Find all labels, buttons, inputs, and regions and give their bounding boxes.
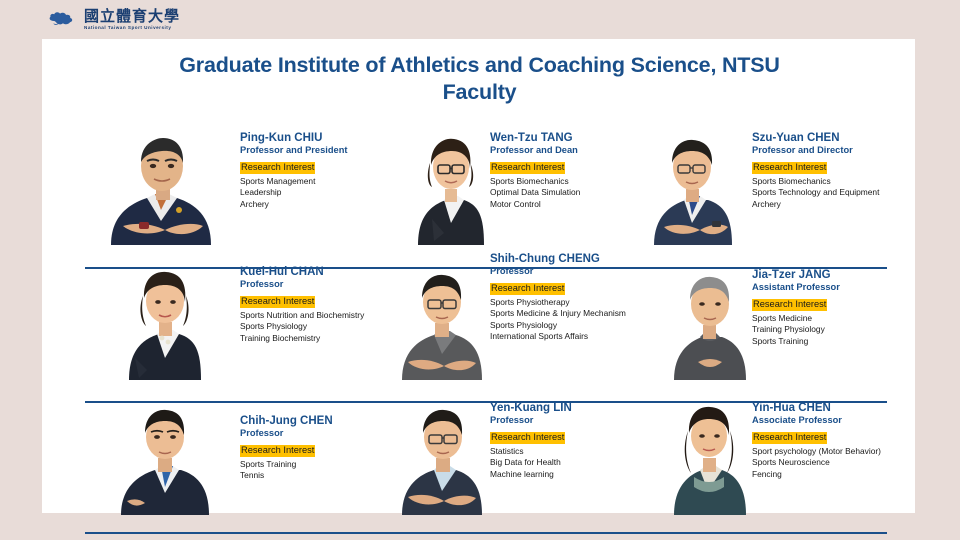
research-interest-item: Archery [752, 199, 879, 211]
research-interest-list: Sports Physiotherapy Sports Medicine & I… [490, 297, 626, 343]
faculty-name: Kuei-Hui CHAN [240, 265, 364, 279]
research-interest-list: Statistics Big Data for Health Machine l… [490, 446, 572, 481]
faculty-info: Yen-Kuang LIN Professor Research Interes… [490, 401, 572, 480]
university-logo: 國立體育大學 National Taiwan Sport University [48, 4, 180, 36]
research-interest-item: Sports Biomechanics [490, 176, 580, 188]
faculty-card-yen-kuang-lin[interactable]: Yen-Kuang LIN Professor Research Interes… [362, 379, 637, 519]
page-title-line1: Graduate Institute of Athletics and Coac… [102, 52, 857, 79]
research-interest-item: Motor Control [490, 199, 580, 211]
faculty-name: Jia-Tzer JANG [752, 268, 840, 282]
faculty-card-yin-hua-chen[interactable]: Yin-Hua CHEN Associate Professor Researc… [630, 379, 905, 519]
portrait-ping-kun-chiu [99, 118, 221, 245]
page-title: Graduate Institute of Athletics and Coac… [102, 52, 857, 106]
faculty-card-chih-jung-chen[interactable]: Chih-Jung CHEN Professor Research Intere… [85, 379, 360, 519]
research-interest-item: Optimal Data Simulation [490, 187, 580, 199]
faculty-name: Chih-Jung CHEN [240, 414, 333, 428]
research-interest-item: International Sports Affairs [490, 331, 626, 343]
faculty-row-3: Chih-Jung CHEN Professor Research Intere… [42, 379, 915, 519]
portrait-jia-tzer-jang [664, 262, 754, 380]
faculty-card-jia-tzer-jang[interactable]: Jia-Tzer JANG Assistant Professor Resear… [630, 244, 905, 384]
portrait-wen-tzu-tang [410, 123, 488, 245]
portrait-yen-kuang-lin [392, 393, 492, 515]
faculty-card-shih-chung-cheng[interactable]: Shih-Chung CHENG Professor Research Inte… [362, 244, 637, 384]
logo-chinese-name: 國立體育大學 [84, 9, 180, 24]
faculty-row-2: Kuei-Hui CHAN Professor Research Interes… [42, 244, 915, 384]
portrait-szu-yuan-chen [646, 123, 738, 245]
research-interest-item: Sports Management [240, 176, 347, 188]
research-interest-item: Sports Training [752, 336, 840, 348]
research-interest-badge: Research Interest [490, 283, 565, 295]
faculty-position: Professor [490, 266, 626, 278]
research-interest-badge: Research Interest [240, 445, 315, 457]
content-card: Graduate Institute of Athletics and Coac… [42, 39, 915, 513]
faculty-position: Professor and President [240, 145, 347, 157]
research-interest-item: Sports Biomechanics [752, 176, 879, 188]
research-interest-item: Sports Nutrition and Biochemistry [240, 310, 364, 322]
faculty-card-wen-tzu-tang[interactable]: Wen-Tzu TANG Professor and Dean Research… [362, 109, 637, 249]
faculty-card-ping-kun-chiu[interactable]: Ping-Kun CHIU Professor and President Re… [85, 109, 360, 249]
slide-canvas: 國立體育大學 National Taiwan Sport University … [0, 0, 960, 540]
portrait-kuei-hui-chan [121, 258, 209, 380]
row-separator [85, 532, 887, 534]
research-interest-list: Sports Medicine Training Physiology Spor… [752, 313, 840, 348]
faculty-position: Associate Professor [752, 415, 881, 427]
faculty-info: Jia-Tzer JANG Assistant Professor Resear… [752, 268, 840, 347]
faculty-position: Assistant Professor [752, 282, 840, 294]
research-interest-item: Archery [240, 199, 347, 211]
logo-wordmark: 國立體育大學 National Taiwan Sport University [84, 9, 180, 31]
research-interest-item: Sports Medicine & Injury Mechanism [490, 308, 626, 320]
portrait-chih-jung-chen [105, 393, 223, 515]
faculty-info: Chih-Jung CHEN Professor Research Intere… [240, 414, 333, 482]
research-interest-badge: Research Interest [752, 299, 827, 311]
faculty-info: Shih-Chung CHENG Professor Research Inte… [490, 252, 626, 343]
research-interest-list: Sport psychology (Motor Behavior) Sports… [752, 446, 881, 481]
research-interest-item: Sports Neuroscience [752, 457, 881, 469]
research-interest-item: Training Physiology [752, 324, 840, 336]
faculty-position: Professor and Dean [490, 145, 580, 157]
faculty-row-1: Ping-Kun CHIU Professor and President Re… [42, 109, 915, 249]
research-interest-list: Sports Nutrition and Biochemistry Sports… [240, 310, 364, 345]
research-interest-item: Machine learning [490, 469, 572, 481]
faculty-name: Yen-Kuang LIN [490, 401, 572, 415]
faculty-info: Ping-Kun CHIU Professor and President Re… [240, 131, 347, 210]
research-interest-item: Big Data for Health [490, 457, 572, 469]
faculty-position: Professor [240, 279, 364, 291]
portrait-shih-chung-cheng [392, 258, 492, 380]
research-interest-item: Leadership [240, 187, 347, 199]
ntsu-cloud-logo-icon [48, 10, 78, 30]
faculty-name: Ping-Kun CHIU [240, 131, 347, 145]
research-interest-badge: Research Interest [752, 162, 827, 174]
faculty-info: Yin-Hua CHEN Associate Professor Researc… [752, 401, 881, 480]
logo-english-name: National Taiwan Sport University [84, 26, 180, 31]
research-interest-list: Sports Biomechanics Optimal Data Simulat… [490, 176, 580, 211]
faculty-name: Yin-Hua CHEN [752, 401, 881, 415]
faculty-position: Professor and Director [752, 145, 879, 157]
research-interest-list: Sports Training Tennis [240, 459, 333, 482]
research-interest-item: Tennis [240, 470, 333, 482]
research-interest-item: Sports Physiotherapy [490, 297, 626, 309]
research-interest-item: Sports Training [240, 459, 333, 471]
research-interest-badge: Research Interest [490, 432, 565, 444]
page-title-line2: Faculty [102, 79, 857, 106]
faculty-info: Kuei-Hui CHAN Professor Research Interes… [240, 265, 364, 344]
research-interest-item: Sports Physiology [490, 320, 626, 332]
research-interest-item: Sport psychology (Motor Behavior) [752, 446, 881, 458]
research-interest-item: Sports Medicine [752, 313, 840, 325]
faculty-card-kuei-hui-chan[interactable]: Kuei-Hui CHAN Professor Research Interes… [85, 244, 360, 384]
research-interest-item: Sports Technology and Equipment [752, 187, 879, 199]
research-interest-badge: Research Interest [490, 162, 565, 174]
portrait-yin-hua-chen [664, 393, 754, 515]
research-interest-list: Sports Biomechanics Sports Technology an… [752, 176, 879, 211]
faculty-info: Szu-Yuan CHEN Professor and Director Res… [752, 131, 879, 210]
research-interest-item: Statistics [490, 446, 572, 458]
research-interest-item: Sports Physiology [240, 321, 364, 333]
research-interest-item: Training Biochemistry [240, 333, 364, 345]
research-interest-list: Sports Management Leadership Archery [240, 176, 347, 211]
faculty-info: Wen-Tzu TANG Professor and Dean Research… [490, 131, 580, 210]
research-interest-badge: Research Interest [752, 432, 827, 444]
research-interest-item: Fencing [752, 469, 881, 481]
faculty-position: Professor [490, 415, 572, 427]
research-interest-badge: Research Interest [240, 296, 315, 308]
faculty-name: Szu-Yuan CHEN [752, 131, 879, 145]
research-interest-badge: Research Interest [240, 162, 315, 174]
faculty-name: Wen-Tzu TANG [490, 131, 580, 145]
faculty-position: Professor [240, 428, 333, 440]
faculty-card-szu-yuan-chen[interactable]: Szu-Yuan CHEN Professor and Director Res… [630, 109, 905, 249]
faculty-name: Shih-Chung CHENG [490, 252, 626, 266]
